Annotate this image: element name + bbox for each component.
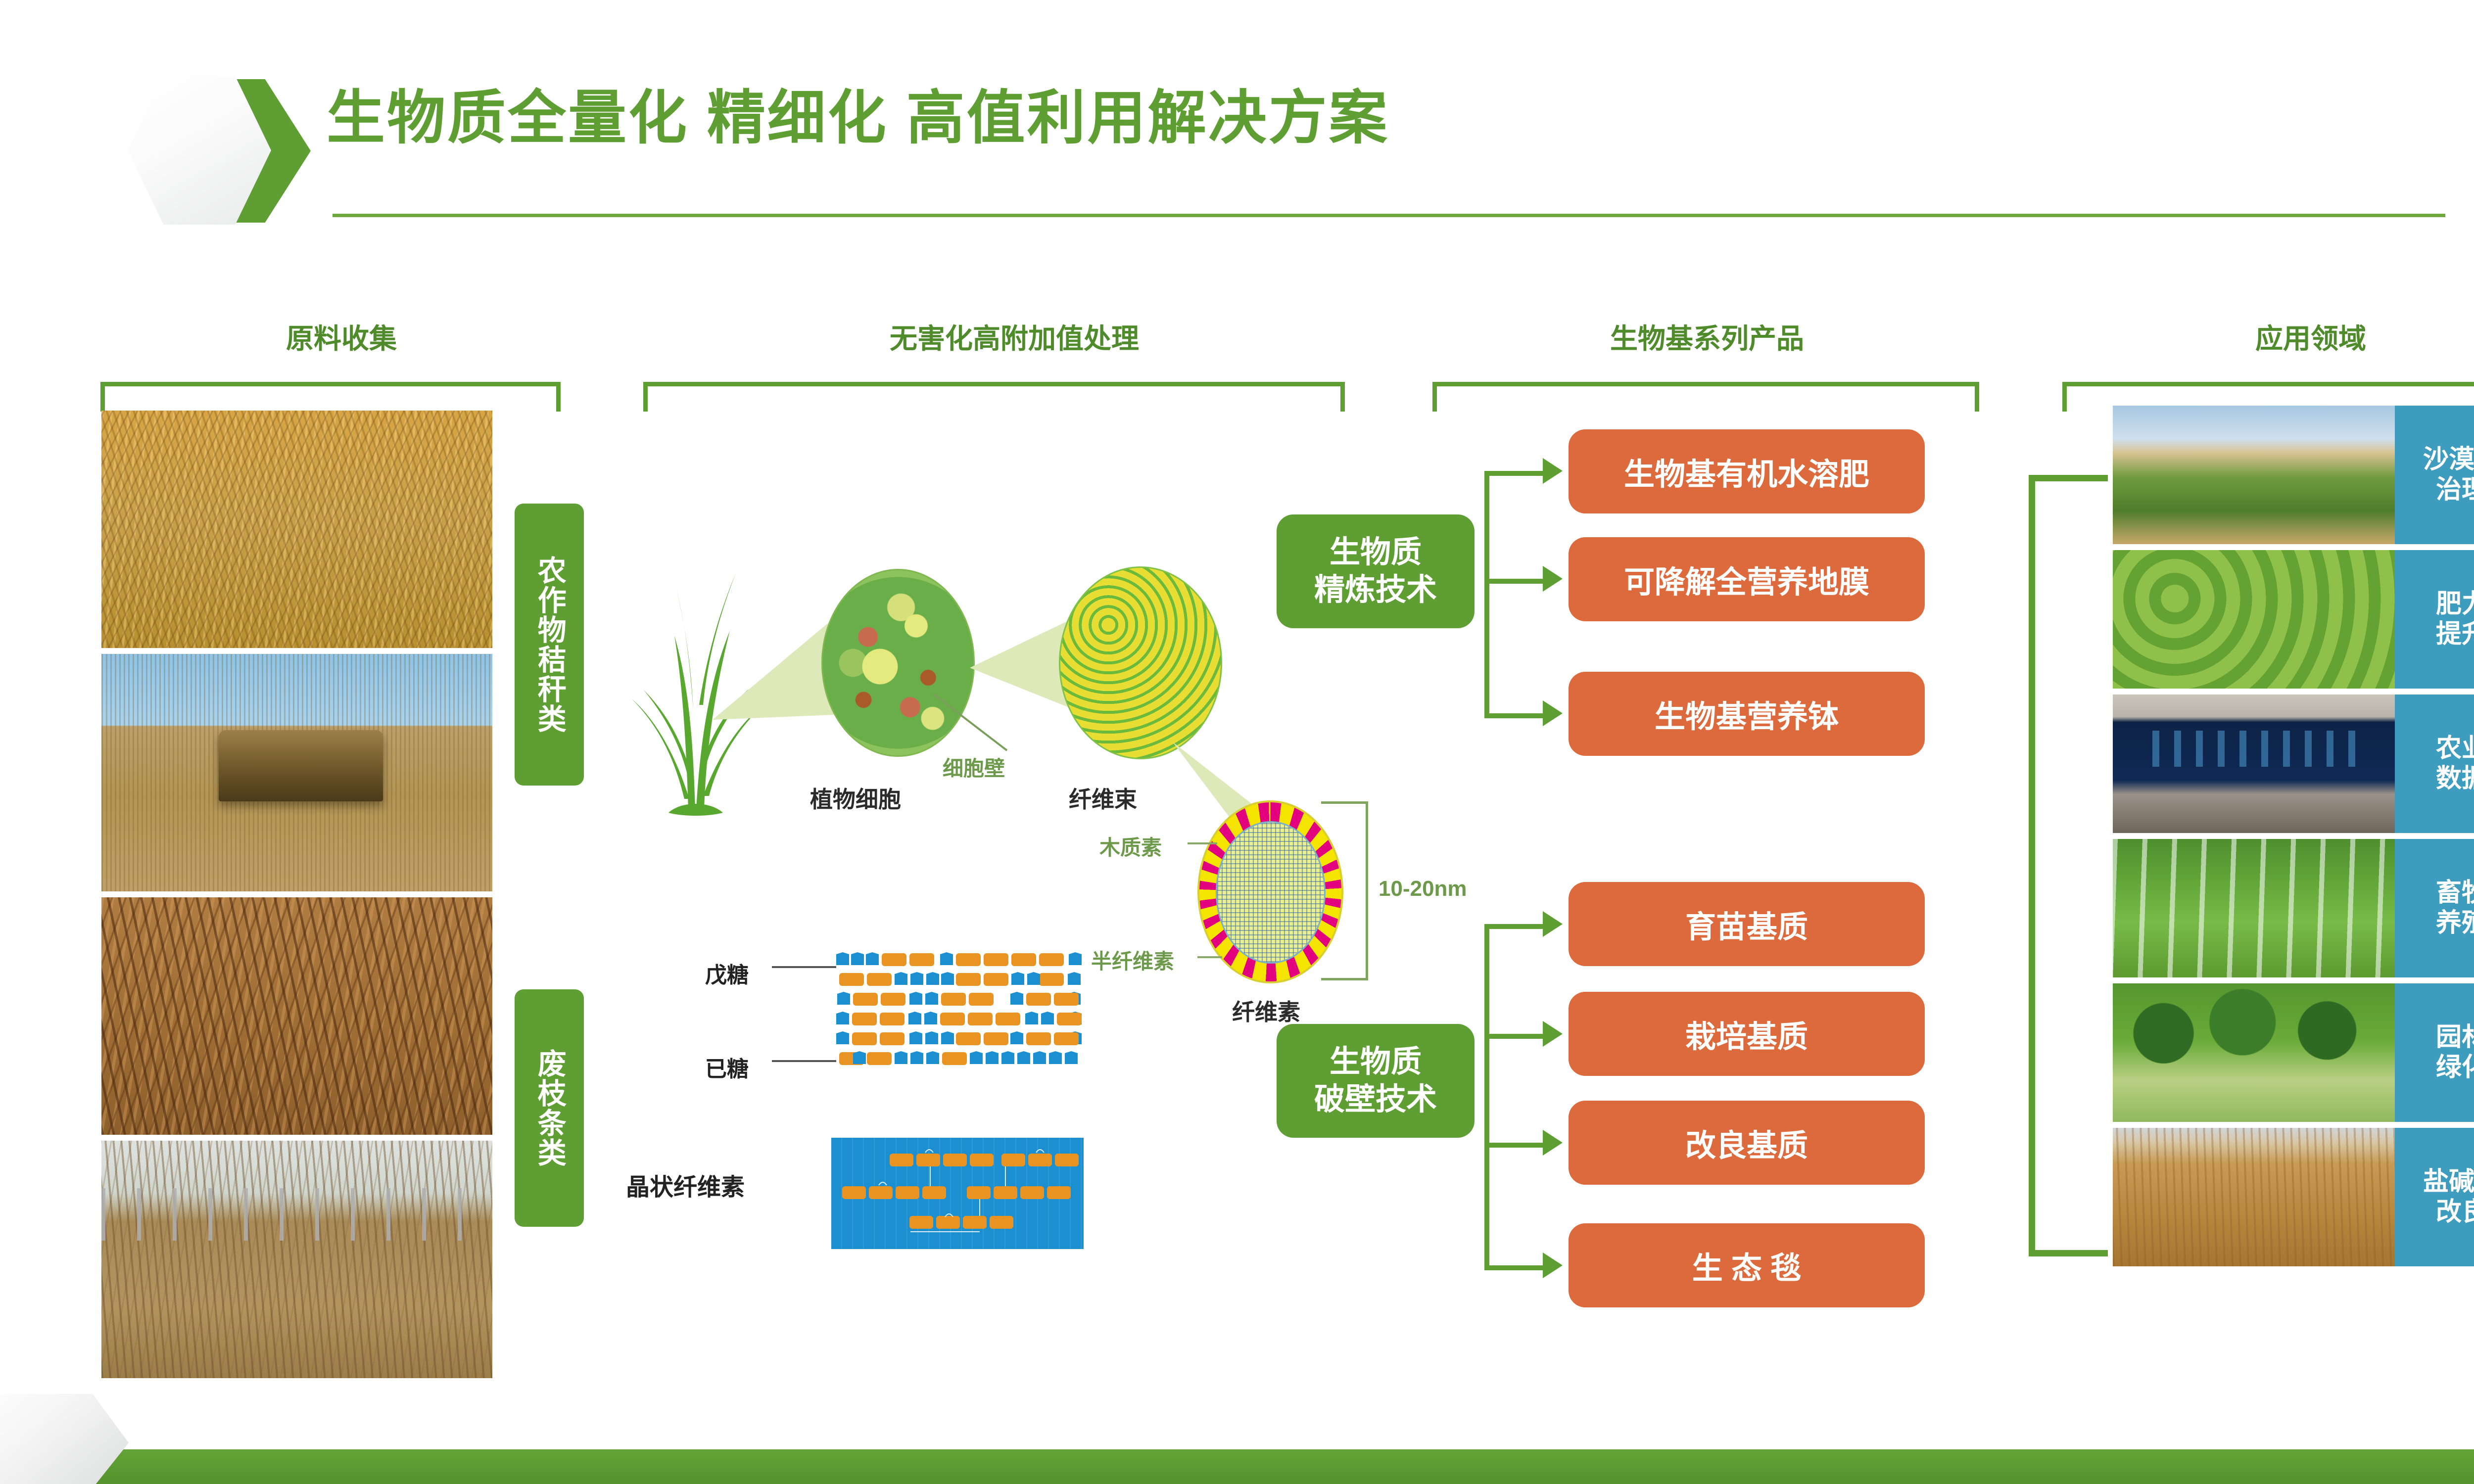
connector-branch-b1 — [1484, 924, 1544, 929]
section-bracket-processing — [643, 382, 1345, 412]
app-tag-line1: 盐碱地 — [2423, 1167, 2474, 1197]
app-tag-line2: 提升 — [2436, 619, 2474, 649]
application-tag-agri-data: 农业 数据 — [2395, 695, 2474, 833]
title-underline — [333, 214, 2445, 217]
section-bracket-collection — [100, 382, 561, 412]
connector-branch-r1 — [1484, 471, 1544, 476]
app-tag-line1: 园林 — [2436, 1022, 2474, 1053]
tech-box-refining[interactable]: 生物质 精炼技术 — [1277, 514, 1475, 628]
section-title-processing: 无害化高附加值处理 — [609, 317, 1420, 357]
application-row-saline-soil[interactable]: 盐碱地 改良 — [2113, 1128, 2474, 1266]
product-box-nutrient-pot[interactable]: 生物基营养钵 — [1569, 672, 1925, 756]
connector-branch-b4 — [1484, 1265, 1544, 1270]
tech2-label-line1: 生物质 — [1330, 1043, 1422, 1081]
connector-branch-r3 — [1484, 713, 1544, 718]
lignin-leader-line — [1188, 842, 1217, 844]
page-title: 生物质全量化 精细化 高值利用解决方案 — [327, 87, 1389, 151]
dimension-bottom-tick — [1321, 978, 1368, 980]
application-row-agri-data[interactable]: 农业 数据 — [2113, 695, 2474, 833]
arrow-r2 — [1543, 566, 1563, 592]
app-tag-line1: 肥力 — [2436, 589, 2474, 619]
app-tag-line2: 养殖 — [2436, 908, 2474, 938]
hexagon-chevron-icon — [128, 69, 306, 232]
arrow-b1 — [1543, 911, 1563, 937]
fiber-bundle-illustration — [1059, 566, 1222, 759]
application-tag-livestock: 畜牧 养殖 — [2395, 839, 2474, 977]
product-box-biodegradable-mulch-film[interactable]: 可降解全营养地膜 — [1569, 537, 1925, 621]
tech-label-line2: 精炼技术 — [1314, 571, 1437, 609]
label-cell-wall: 细胞壁 — [943, 752, 1005, 782]
label-cellulose: 纤维素 — [1232, 994, 1300, 1027]
vineyard-pruning-photo — [101, 1141, 492, 1378]
label-lignin: 木质素 — [1099, 831, 1162, 861]
application-tag-saline-soil: 盐碱地 改良 — [2395, 1128, 2474, 1266]
label-hemicellulose: 半纤维素 — [1091, 945, 1174, 975]
dimension-vertical-line — [1366, 801, 1368, 979]
straw-bale-field-photo — [101, 654, 492, 891]
applications-bracket — [2029, 475, 2108, 1256]
application-row-livestock[interactable]: 畜牧 养殖 — [2113, 839, 2474, 977]
footer-bar — [0, 1449, 2474, 1484]
cabbage-field-photo — [2113, 550, 2395, 689]
cellulose-core — [1216, 821, 1326, 964]
dimension-top-tick — [1321, 801, 1368, 804]
dry-branches-photo — [101, 897, 492, 1135]
arrow-b2 — [1543, 1021, 1563, 1047]
tech-label-line1: 生物质 — [1330, 534, 1422, 571]
park-landscape-photo — [2113, 983, 2395, 1122]
app-tag-line1: 沙漠化 — [2423, 445, 2474, 475]
application-row-desertification[interactable]: 沙漠化 治理 — [2113, 406, 2474, 544]
tech2-label-line2: 破壁技术 — [1314, 1081, 1437, 1118]
app-tag-line2: 治理 — [2436, 475, 2474, 505]
connector-branch-r2 — [1484, 579, 1544, 584]
feedstock-tag-crop-straw: 农作物秸秆类 — [515, 504, 584, 786]
product-box-seedling-substrate[interactable]: 育苗基质 — [1569, 882, 1925, 966]
section-title-products: 生物基系列产品 — [1420, 317, 1994, 357]
app-tag-line1: 畜牧 — [2436, 878, 2474, 908]
crystalline-cellulose-diagram — [831, 1138, 1084, 1249]
arrow-r3 — [1543, 700, 1563, 726]
arrow-b3 — [1543, 1130, 1563, 1156]
product-box-eco-blanket[interactable]: 生 态 毯 — [1569, 1223, 1925, 1307]
section-title-collection: 原料收集 — [148, 317, 534, 357]
arrow-b4 — [1543, 1252, 1563, 1278]
application-tag-landscaping: 园林 绿化 — [2395, 983, 2474, 1122]
label-fiber-bundle: 纤维束 — [1069, 782, 1137, 814]
connector-branch-b3 — [1484, 1143, 1544, 1148]
application-tag-fertility: 肥力 提升 — [2395, 550, 2474, 689]
infographic-root: 生物质全量化 精细化 高值利用解决方案 原料收集 无害化高附加值处理 生物基系列… — [0, 0, 2474, 1484]
pentose-leader-line — [772, 966, 836, 968]
application-tag-desertification: 沙漠化 治理 — [2395, 406, 2474, 544]
connector-trunk-refining — [1484, 471, 1489, 718]
saline-soil-photo — [2113, 1128, 2395, 1266]
app-tag-line2: 数据 — [2436, 764, 2474, 794]
data-control-room-photo — [2113, 695, 2395, 833]
tech-box-cell-wall-breaking[interactable]: 生物质 破壁技术 — [1277, 1024, 1475, 1138]
label-plant-cell: 植物细胞 — [810, 782, 901, 814]
corn-stalk-field-photo — [101, 411, 492, 648]
sheep-grazing-photo — [2113, 839, 2395, 977]
app-tag-line2: 绿化 — [2436, 1053, 2474, 1083]
application-row-landscaping[interactable]: 园林 绿化 — [2113, 983, 2474, 1122]
feedstock-tag-waste-branches: 废枝条类 — [515, 989, 584, 1227]
arrow-r1 — [1543, 458, 1563, 484]
label-hexose: 已糖 — [705, 1051, 749, 1083]
product-box-amendment-substrate[interactable]: 改良基质 — [1569, 1101, 1925, 1185]
app-tag-line2: 改良 — [2436, 1197, 2474, 1227]
section-title-applications: 应用领域 — [2068, 317, 2474, 357]
product-box-cultivation-substrate[interactable]: 栽培基质 — [1569, 992, 1925, 1076]
application-row-fertility[interactable]: 肥力 提升 — [2113, 550, 2474, 689]
sugar-chain-illustration — [836, 952, 1094, 1120]
label-fiber-dimension: 10-20nm — [1379, 877, 1467, 901]
label-crystalline-cellulose: 晶状纤维素 — [626, 1167, 745, 1202]
section-bracket-products — [1432, 382, 1979, 412]
product-box-water-soluble-fertilizer[interactable]: 生物基有机水溶肥 — [1569, 429, 1925, 513]
label-pentose: 戊糖 — [705, 957, 749, 989]
hexose-leader-line — [772, 1060, 836, 1062]
connector-branch-b2 — [1484, 1034, 1544, 1039]
app-tag-line1: 农业 — [2436, 734, 2474, 764]
desert-restoration-photo — [2113, 406, 2395, 544]
connector-trunk-breaking — [1484, 924, 1489, 1270]
hemicellulose-leader-line — [1197, 956, 1222, 958]
